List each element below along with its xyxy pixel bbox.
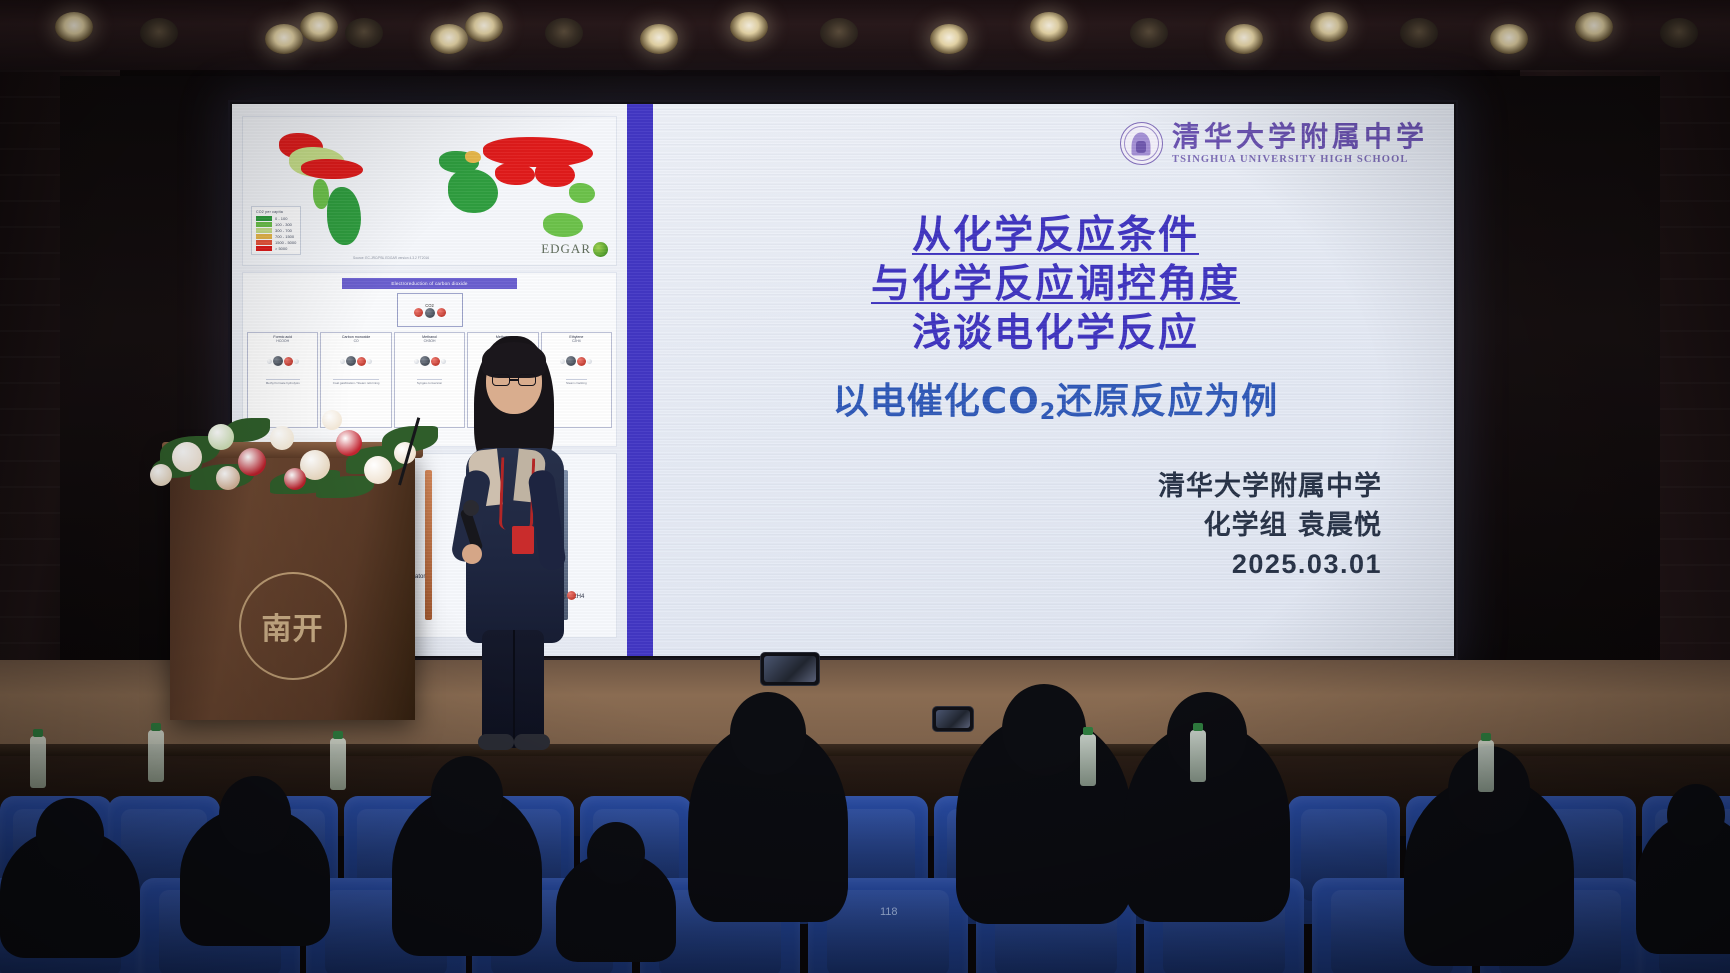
map-region [495, 163, 535, 185]
map-legend-title: CO2 per capita [256, 210, 296, 214]
map-legend-row: 300 - 700 [256, 227, 296, 233]
ceiling-light [1310, 12, 1348, 42]
slide-title-block: 从化学反应条件 与化学反应调控角度 浅谈电化学反应 以电催化CO2还原反应为例 [683, 211, 1428, 424]
flower-bloom [208, 424, 234, 450]
tsinghua-seal-icon [1120, 122, 1163, 165]
flower-arrangement [150, 390, 440, 510]
audience-head [1667, 784, 1725, 846]
map-region [465, 151, 481, 163]
legend-label: 100 - 300 [275, 222, 292, 227]
flower-bloom [322, 410, 342, 430]
ceiling-light [345, 18, 383, 48]
ceiling-light [1490, 24, 1528, 54]
legend-label: > 5000 [275, 246, 287, 251]
flower-bloom [270, 426, 294, 450]
smartphone-recording [760, 652, 820, 686]
flower-bloom [238, 448, 266, 476]
co2-center-node: CO2 [397, 293, 463, 327]
bottle-cap [33, 729, 43, 737]
product-molecule [340, 346, 372, 376]
presenter-person [452, 330, 572, 750]
edgar-label: EDGAR [541, 241, 591, 257]
product-formula: CO [354, 339, 359, 343]
bottle-cap [1193, 723, 1203, 731]
audience-head [730, 692, 807, 775]
ceiling-light [1130, 18, 1168, 48]
hair-front [482, 342, 546, 378]
ceiling-light [300, 12, 338, 42]
audience-head [36, 798, 103, 871]
map-legend: CO2 per capita 0 - 100100 - 300300 - 700… [251, 206, 301, 255]
product-note: Methyl formate hydrolysis [266, 379, 300, 386]
bottle-cap [1481, 733, 1491, 741]
microphone-head [463, 500, 479, 516]
product-note: Syngas conversion [417, 379, 442, 386]
flower-bloom [216, 466, 240, 490]
globe-icon [593, 242, 608, 257]
legend-label: 300 - 700 [275, 228, 292, 233]
title-line-2: 与化学反应调控角度 [683, 260, 1428, 309]
legend-swatch [256, 216, 272, 221]
water-bottle [1478, 740, 1494, 792]
map-region [301, 159, 363, 179]
seat-number: 118 [880, 906, 898, 965]
map-region [483, 137, 593, 167]
ceiling-light [465, 12, 503, 42]
title-line-3: 浅谈电化学反应 [683, 309, 1428, 358]
ceiling-light [265, 24, 303, 54]
presenter-school: 清华大学附属中学 [683, 468, 1382, 506]
ceiling-light [545, 18, 583, 48]
ceiling-light [930, 24, 968, 54]
product-note: Coal gasification / Steam reforming [333, 379, 380, 386]
flower-leaf [316, 476, 374, 498]
edgar-logo: EDGAR [541, 241, 608, 257]
map-region [327, 187, 361, 245]
legend-label: 1500 - 5000 [275, 240, 296, 245]
ceiling-light [1400, 18, 1438, 48]
auditorium-scene: Source: EC-JRC/PBL EDGAR version 4.3.2 F… [0, 0, 1730, 973]
map-legend-row: 700 - 1500 [256, 233, 296, 239]
bottle-cap [151, 723, 161, 731]
map-source-note: Source: EC-JRC/PBL EDGAR version 4.3.2 F… [353, 256, 429, 260]
ceiling [0, 0, 1730, 86]
audience-head [587, 822, 645, 884]
hand [462, 544, 482, 564]
glasses-icon [492, 374, 536, 386]
podium-seal: 南开 [239, 572, 347, 680]
map-legend-row: 100 - 300 [256, 221, 296, 227]
title-line-1: 从化学反应条件 [683, 211, 1428, 260]
audience-head [1002, 684, 1086, 776]
phone-screen [936, 710, 970, 728]
ceiling-light [820, 18, 858, 48]
flower-bloom [150, 464, 172, 486]
audience-head [219, 776, 291, 854]
legend-label: 700 - 1500 [275, 234, 294, 239]
diagram-title: Electroreduction of carbon dioxide [342, 278, 517, 289]
school-logo-text: 清华大学附属中学 TSINGHUA UNIVERSITY HIGH SCHOOL [1172, 123, 1428, 165]
bottle-cap [333, 731, 343, 739]
ceiling-light [640, 24, 678, 54]
flower-bloom [364, 456, 392, 484]
subtitle-prefix: 以电催化CO [833, 381, 1040, 422]
school-name-en: TSINGHUA UNIVERSITY HIGH SCHOOL [1172, 154, 1408, 165]
audience-head [431, 756, 503, 834]
legend-swatch [256, 228, 272, 233]
slide-subtitle: 以电催化CO2还原反应为例 [683, 372, 1428, 424]
product-molecule [414, 346, 446, 376]
world-emissions-map: Source: EC-JRC/PBL EDGAR version 4.3.2 F… [242, 116, 617, 266]
slide-divider [627, 104, 653, 656]
product-molecule [267, 346, 299, 376]
flower-bloom [336, 430, 362, 456]
smartphone-recording [932, 706, 974, 732]
product-formula: HCOOH [276, 339, 289, 343]
name-badge [512, 526, 534, 554]
subtitle-subscript: 2 [1040, 399, 1057, 425]
water-bottle [1080, 734, 1096, 786]
school-name-cn: 清华大学附属中学 [1172, 123, 1428, 151]
co2-molecule [414, 308, 446, 318]
ceiling-light [730, 12, 768, 42]
ceiling-light [1660, 18, 1698, 48]
ceiling-light [1575, 12, 1613, 42]
water-bottle [30, 736, 46, 788]
map-region [569, 183, 595, 203]
slide: Source: EC-JRC/PBL EDGAR version 4.3.2 F… [232, 104, 1454, 656]
slide-title-panel: 清华大学附属中学 TSINGHUA UNIVERSITY HIGH SCHOOL… [653, 104, 1454, 656]
audience-area: 117118 [0, 700, 1730, 973]
bottle-cap [1083, 727, 1093, 735]
map-region [543, 213, 583, 237]
water-bottle [1190, 730, 1206, 782]
water-bottle [148, 730, 164, 782]
presentation-date: 2025.03.01 [683, 545, 1382, 583]
map-legend-row: 1500 - 5000 [256, 239, 296, 245]
ceiling-light [1030, 12, 1068, 42]
presenter-info: 清华大学附属中学 化学组 袁晨悦 2025.03.01 [683, 468, 1428, 583]
flower-bloom [284, 468, 306, 490]
flower-bloom [172, 442, 202, 472]
legend-swatch [256, 234, 272, 239]
presenter-name: 化学组 袁晨悦 [683, 507, 1382, 545]
legend-swatch [256, 246, 272, 251]
subtitle-suffix: 还原反应为例 [1056, 381, 1278, 422]
product-formula: CH3OH [424, 339, 436, 343]
legend-swatch [256, 222, 272, 227]
school-logo: 清华大学附属中学 TSINGHUA UNIVERSITY HIGH SCHOOL [683, 122, 1428, 165]
ceiling-light [1225, 24, 1263, 54]
ceiling-light [140, 18, 178, 48]
phone-screen [764, 656, 816, 682]
product-formula: C2H4 [572, 339, 581, 343]
audience-head [1167, 692, 1247, 778]
legend-label: 0 - 100 [275, 216, 287, 221]
ceiling-light [430, 24, 468, 54]
water-bottle [330, 738, 346, 790]
legend-swatch [256, 240, 272, 245]
ceiling-light [55, 12, 93, 42]
map-legend-row: > 5000 [256, 245, 296, 251]
map-region [448, 169, 498, 213]
map-region [535, 161, 575, 187]
